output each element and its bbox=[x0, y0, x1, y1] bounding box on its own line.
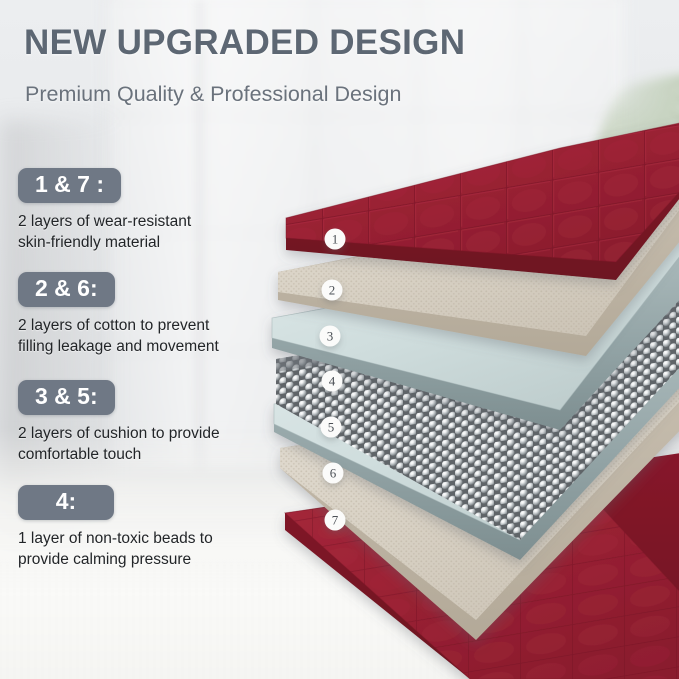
plant-icon bbox=[545, 0, 679, 176]
badge-1-and-7: 1 & 7 : bbox=[18, 168, 121, 203]
description-4: 1 layer of non-toxic beads to provide ca… bbox=[18, 529, 213, 571]
badge-2-and-6: 2 & 6: bbox=[18, 272, 115, 307]
description-3-and-5: 2 layers of cushion to provide comfortab… bbox=[18, 424, 220, 466]
page-title: NEW UPGRADED DESIGN bbox=[24, 25, 465, 60]
label-group-4: 4: 1 layer of non-toxic beads to provide… bbox=[18, 485, 213, 571]
label-group-3-and-5: 3 & 5: 2 layers of cushion to provide co… bbox=[18, 380, 220, 466]
page-subtitle: Premium Quality & Professional Design bbox=[25, 84, 401, 106]
description-2-and-6: 2 layers of cotton to prevent filling le… bbox=[18, 316, 219, 358]
duvet-texture bbox=[0, 560, 679, 679]
infographic-canvas: NEW UPGRADED DESIGN Premium Quality & Pr… bbox=[0, 0, 679, 679]
label-group-2-and-6: 2 & 6: 2 layers of cotton to prevent fil… bbox=[18, 272, 219, 358]
label-group-1-and-7: 1 & 7 : 2 layers of wear-resistant skin-… bbox=[18, 168, 191, 254]
description-1-and-7: 2 layers of wear-resistant skin-friendly… bbox=[18, 212, 191, 254]
badge-3-and-5: 3 & 5: bbox=[18, 380, 115, 415]
badge-4: 4: bbox=[18, 485, 114, 520]
